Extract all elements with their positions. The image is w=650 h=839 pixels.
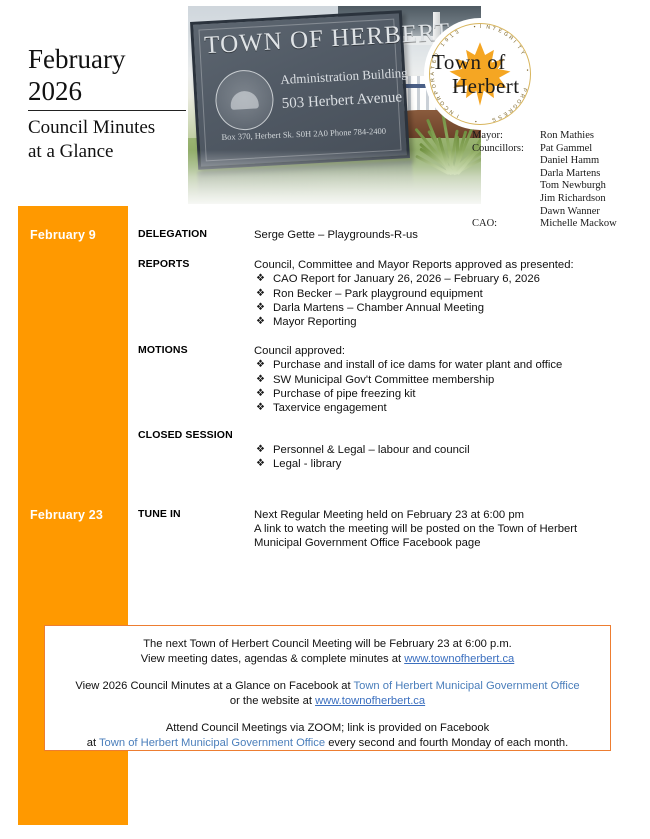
title-subtitle: Council Minutes at a Glance (28, 116, 193, 164)
section-lead: Serge Gette – Playgrounds-R-us (254, 228, 640, 242)
list-item: ❖Darla Martens – Chamber Annual Meeting (254, 301, 640, 315)
list-item-text: Purchase of pipe freezing kit (273, 388, 416, 400)
list-item-text: CAO Report for January 26, 2026 – Februa… (273, 273, 540, 285)
diamond-bullet-icon: ❖ (256, 358, 265, 372)
officials-value: Daniel Hamm (540, 155, 599, 168)
diamond-bullet-icon: ❖ (256, 287, 265, 301)
officials-row: Dawn Wanner (472, 206, 617, 219)
diamond-bullet-icon: ❖ (256, 301, 265, 315)
list-item-text: SW Municipal Gov't Committee membership (273, 374, 494, 386)
diamond-bullet-icon: ❖ (256, 443, 265, 457)
footer-line-5: Attend Council Meetings via ZOOM; link i… (45, 721, 610, 736)
title-subtitle-line2: at a Glance (28, 140, 193, 164)
section-item-list: ❖Personnel & Legal – labour and council … (254, 443, 640, 472)
footer-line-3: View 2026 Council Minutes at a Glance on… (45, 679, 610, 694)
officials-row: Tom Newburgh (472, 180, 617, 193)
footer-line-3-text: View 2026 Council Minutes at a Glance on… (75, 680, 353, 692)
officials-value: Dawn Wanner (540, 206, 600, 219)
officials-row: Councillors: Pat Gammel (472, 143, 617, 156)
footer-info-box: The next Town of Herbert Council Meeting… (44, 625, 611, 751)
footer-line-2-text: View meeting dates, agendas & complete m… (141, 653, 404, 665)
section-label: CLOSED SESSION (138, 429, 246, 441)
officials-value: Tom Newburgh (540, 180, 606, 193)
footer-line-4-text: or the website at (230, 695, 315, 707)
town-of-herbert-logo: INTEGRITY • PROGRESS • INCORPORATED 1913… (424, 18, 536, 130)
date-heading-february-23: February 23 (30, 508, 130, 522)
section-item-list: ❖Purchase and install of ice dams for wa… (254, 358, 640, 415)
logo-word-herbert: Herbert (452, 74, 520, 99)
list-item: ❖Ron Becker – Park playground equipment (254, 287, 640, 301)
officials-label (472, 155, 540, 168)
date-heading-february-9: February 9 (30, 228, 130, 242)
title-subtitle-line1: Council Minutes (28, 116, 193, 140)
diamond-bullet-icon: ❖ (256, 457, 265, 471)
section-body: Council approved: ❖Purchase and install … (254, 344, 640, 415)
officials-value: Darla Martens (540, 168, 600, 181)
officials-list: Mayor: Ron Mathies Councillors: Pat Gamm… (472, 130, 617, 231)
section-line3: Municipal Government Office Facebook pag… (254, 536, 640, 550)
list-item-text: Darla Martens – Chamber Annual Meeting (273, 302, 484, 314)
title-month-text: February (28, 44, 193, 76)
section-body: Council, Committee and Mayor Reports app… (254, 258, 640, 329)
footer-line-6: at Town of Herbert Municipal Government … (45, 736, 610, 751)
officials-row: Jim Richardson (472, 193, 617, 206)
title-year-text: 2026 (28, 76, 193, 108)
page-title: February 2026 Council Minutes at a Glanc… (28, 44, 193, 164)
photo-sign-board: TOWN OF HERBERT Administration Building … (190, 10, 410, 170)
document-header: February 2026 Council Minutes at a Glanc… (0, 0, 650, 240)
officials-label: Councillors: (472, 143, 540, 156)
diamond-bullet-icon: ❖ (256, 387, 265, 401)
officials-value: Jim Richardson (540, 193, 606, 206)
section-item-list: ❖CAO Report for January 26, 2026 – Febru… (254, 272, 640, 329)
website-link[interactable]: www.townofherbert.ca (404, 653, 514, 665)
website-link[interactable]: www.townofherbert.ca (315, 695, 425, 707)
section-body: ❖Personnel & Legal – labour and council … (254, 429, 640, 472)
officials-row: Mayor: Ron Mathies (472, 130, 617, 143)
list-item-text: Legal - library (273, 458, 341, 470)
list-item: ❖Purchase and install of ice dams for wa… (254, 358, 640, 372)
officials-label (472, 206, 540, 219)
officials-value: Pat Gammel (540, 143, 592, 156)
title-divider (28, 110, 186, 111)
list-item-text: Mayor Reporting (273, 316, 357, 328)
diamond-bullet-icon: ❖ (256, 272, 265, 286)
logo-wordmark: Town of Herbert (424, 18, 536, 130)
section-lead: Next Regular Meeting held on February 23… (254, 508, 640, 522)
facebook-page-link[interactable]: Town of Herbert Municipal Government Off… (354, 680, 580, 692)
photo-ground-reflection (188, 172, 481, 204)
section-lead: Council, Committee and Mayor Reports app… (254, 258, 640, 272)
section-lead: Council approved: (254, 344, 640, 358)
title-month-year: February 2026 (28, 44, 193, 107)
officials-row: Darla Martens (472, 168, 617, 181)
list-item: ❖Purchase of pipe freezing kit (254, 387, 640, 401)
section-label: REPORTS (138, 258, 246, 270)
logo-word-town-of: Town of (432, 50, 506, 75)
list-item-text: Purchase and install of ice dams for wat… (273, 359, 562, 371)
officials-label: Mayor: (472, 130, 540, 143)
diamond-bullet-icon: ❖ (256, 401, 265, 415)
facebook-page-link[interactable]: Town of Herbert Municipal Government Off… (99, 737, 325, 749)
diamond-bullet-icon: ❖ (256, 315, 265, 329)
footer-line-1: The next Town of Herbert Council Meeting… (45, 626, 610, 652)
footer-line-2: View meeting dates, agendas & complete m… (45, 652, 610, 667)
officials-row: Daniel Hamm (472, 155, 617, 168)
officials-label (472, 168, 540, 181)
section-line2: A link to watch the meeting will be post… (254, 522, 640, 536)
section-body: Next Regular Meeting held on February 23… (254, 508, 640, 551)
officials-label (472, 180, 540, 193)
list-item: ❖Taxervice engagement (254, 401, 640, 415)
section-body: Serge Gette – Playgrounds-R-us (254, 228, 640, 242)
list-item: ❖Personnel & Legal – labour and council (254, 443, 640, 457)
list-item: ❖SW Municipal Gov't Committee membership (254, 373, 640, 387)
list-item-text: Personnel & Legal – labour and council (273, 444, 470, 456)
footer-line-6-prefix: at (87, 737, 99, 749)
footer-line-4: or the website at www.townofherbert.ca (45, 694, 610, 709)
list-item: ❖CAO Report for January 26, 2026 – Febru… (254, 272, 640, 286)
section-label: TUNE IN (138, 508, 246, 520)
list-item: ❖Legal - library (254, 457, 640, 471)
footer-spacer (45, 710, 610, 721)
list-item-text: Ron Becker – Park playground equipment (273, 288, 483, 300)
officials-value: Ron Mathies (540, 130, 594, 143)
list-item-text: Taxervice engagement (273, 402, 387, 414)
list-item: ❖Mayor Reporting (254, 315, 640, 329)
footer-spacer (45, 668, 610, 679)
section-label: DELEGATION (138, 228, 246, 240)
diamond-bullet-icon: ❖ (256, 373, 265, 387)
footer-line-6-suffix: every second and fourth Monday of each m… (325, 737, 568, 749)
section-label: MOTIONS (138, 344, 246, 356)
officials-label (472, 193, 540, 206)
